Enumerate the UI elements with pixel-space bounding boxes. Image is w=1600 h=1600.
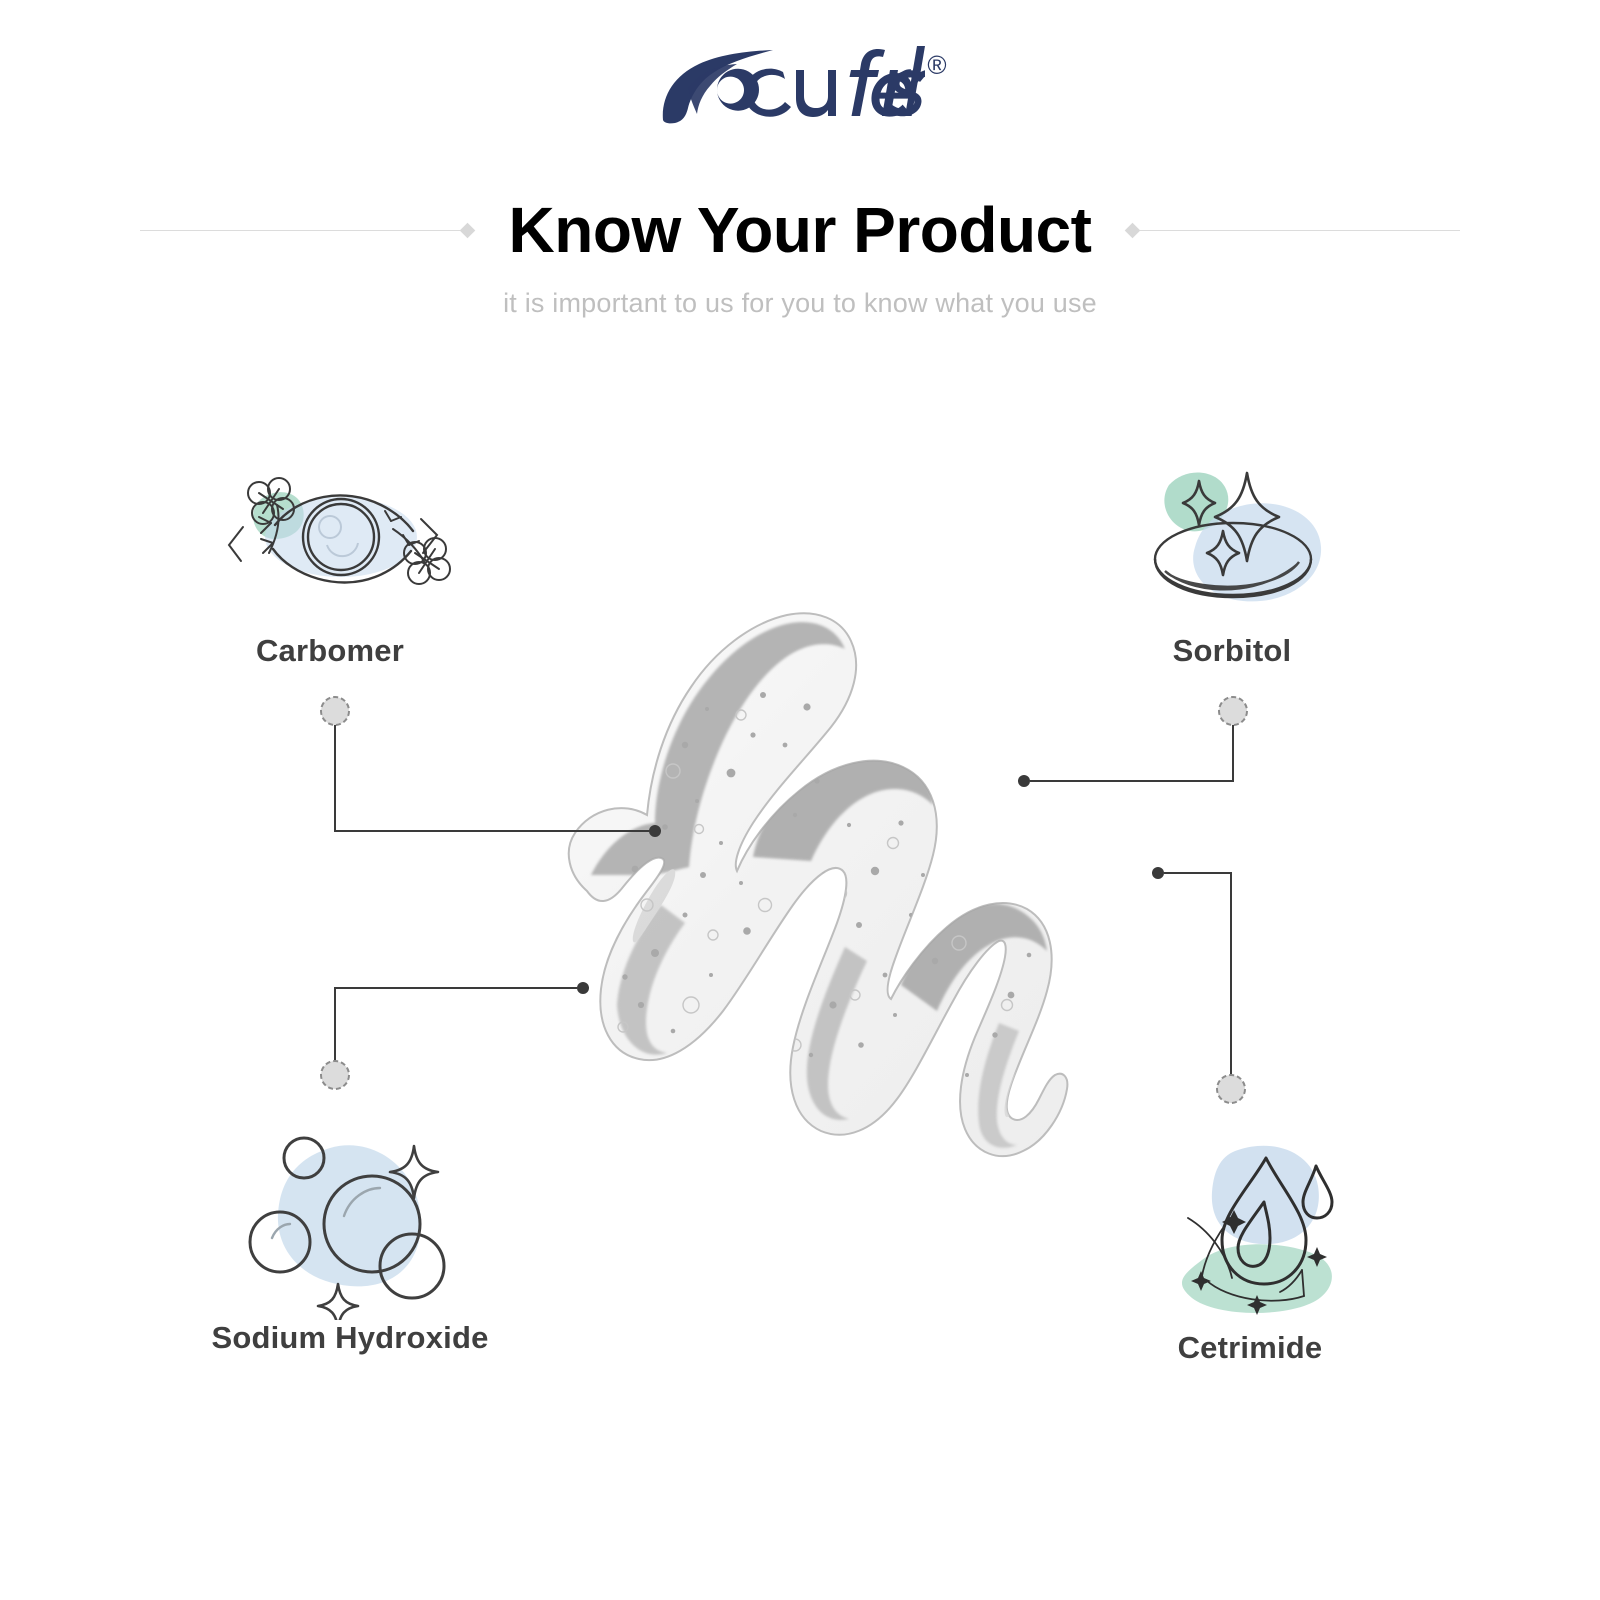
ocufresh-wave-logo-icon: [655, 46, 925, 124]
infographic-canvas: ® Know Your Product it is important to u…: [0, 0, 1600, 1600]
page-title: Know Your Product: [475, 198, 1126, 262]
diamond-marker-left: [459, 222, 475, 238]
ingredient-label-carbomer: Carbomer: [210, 633, 450, 669]
diamond-marker-right: [1125, 222, 1141, 238]
bubbles-icon: [238, 1120, 468, 1325]
registered-trademark-symbol: ®: [927, 50, 946, 81]
brand-logo: ®: [0, 46, 1600, 124]
ingredient-sodium-hydroxide: Sodium Hydroxide: [190, 1120, 510, 1370]
ingredient-cetrimide: Cetrimide: [1130, 1130, 1370, 1380]
page-subtitle: it is important to us for you to know wh…: [0, 288, 1600, 319]
eye-icon: [215, 465, 455, 620]
product-gel-swatch: [355, 575, 1255, 1175]
ingredient-label-sodium-hydroxide: Sodium Hydroxide: [190, 1320, 510, 1356]
title-rule-right: [1140, 230, 1460, 231]
water-droplet-icon: [1146, 1130, 1366, 1335]
ingredient-label-cetrimide: Cetrimide: [1130, 1330, 1370, 1366]
ingredient-label-sorbitol: Sorbitol: [1122, 633, 1342, 669]
contact-lens-icon: [1125, 455, 1345, 620]
ingredient-carbomer: Carbomer: [215, 465, 455, 685]
title-row: Know Your Product: [0, 198, 1600, 262]
header-block: Know Your Product it is important to us …: [0, 198, 1600, 319]
ingredient-sorbitol: Sorbitol: [1125, 455, 1345, 685]
title-rule-left: [140, 230, 460, 231]
